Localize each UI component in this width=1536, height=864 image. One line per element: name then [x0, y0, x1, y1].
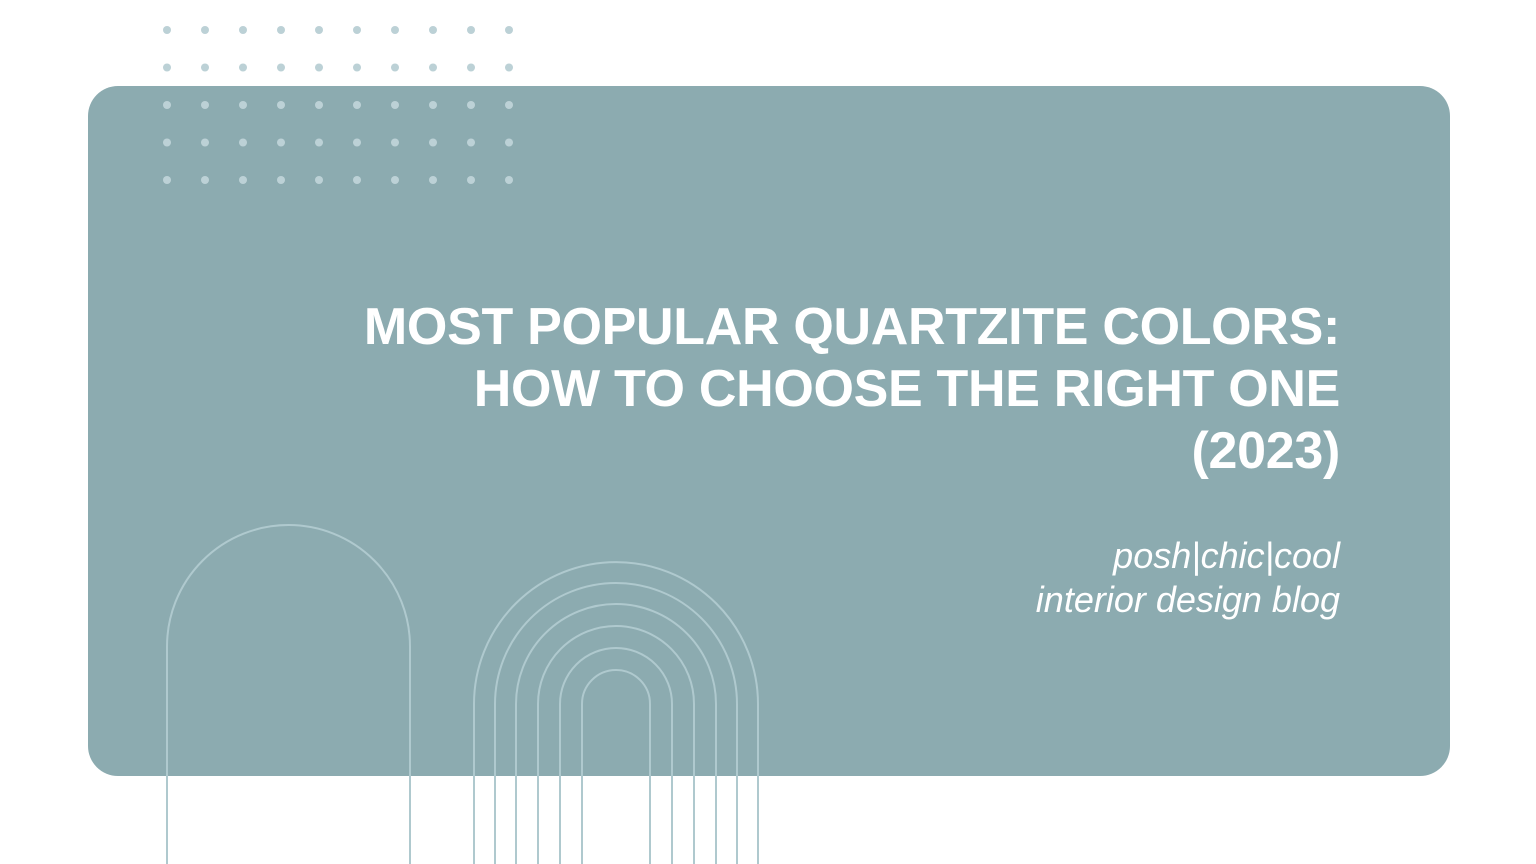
grid-dot [505, 26, 513, 34]
grid-dot [277, 64, 285, 72]
byline-line-1: posh|chic|cool [180, 534, 1340, 578]
slide-canvas: MOST POPULAR QUARTZITE COLORS: HOW TO CH… [0, 0, 1536, 864]
grid-dot [429, 64, 437, 72]
grid-dot [239, 64, 247, 72]
byline-line-2: interior design blog [180, 578, 1340, 622]
grid-dot [391, 64, 399, 72]
grid-dot [505, 64, 513, 72]
grid-dot [201, 26, 209, 34]
grid-dot [315, 26, 323, 34]
grid-dot [353, 64, 361, 72]
grid-dot [315, 64, 323, 72]
grid-dot [467, 26, 475, 34]
grid-dot [239, 26, 247, 34]
headline-line-1: MOST POPULAR QUARTZITE COLORS: [180, 296, 1340, 358]
grid-dot [353, 26, 361, 34]
blog-byline: posh|chic|cool interior design blog [180, 482, 1340, 622]
grid-dot [277, 26, 285, 34]
headline-line-3: (2023) [180, 420, 1340, 482]
grid-dot [429, 26, 437, 34]
page-title: MOST POPULAR QUARTZITE COLORS: HOW TO CH… [180, 296, 1340, 482]
grid-dot [163, 26, 171, 34]
text-block: MOST POPULAR QUARTZITE COLORS: HOW TO CH… [180, 296, 1340, 622]
grid-dot [391, 26, 399, 34]
grid-dot [163, 64, 171, 72]
grid-dot [201, 64, 209, 72]
grid-dot [467, 64, 475, 72]
headline-line-2: HOW TO CHOOSE THE RIGHT ONE [180, 358, 1340, 420]
